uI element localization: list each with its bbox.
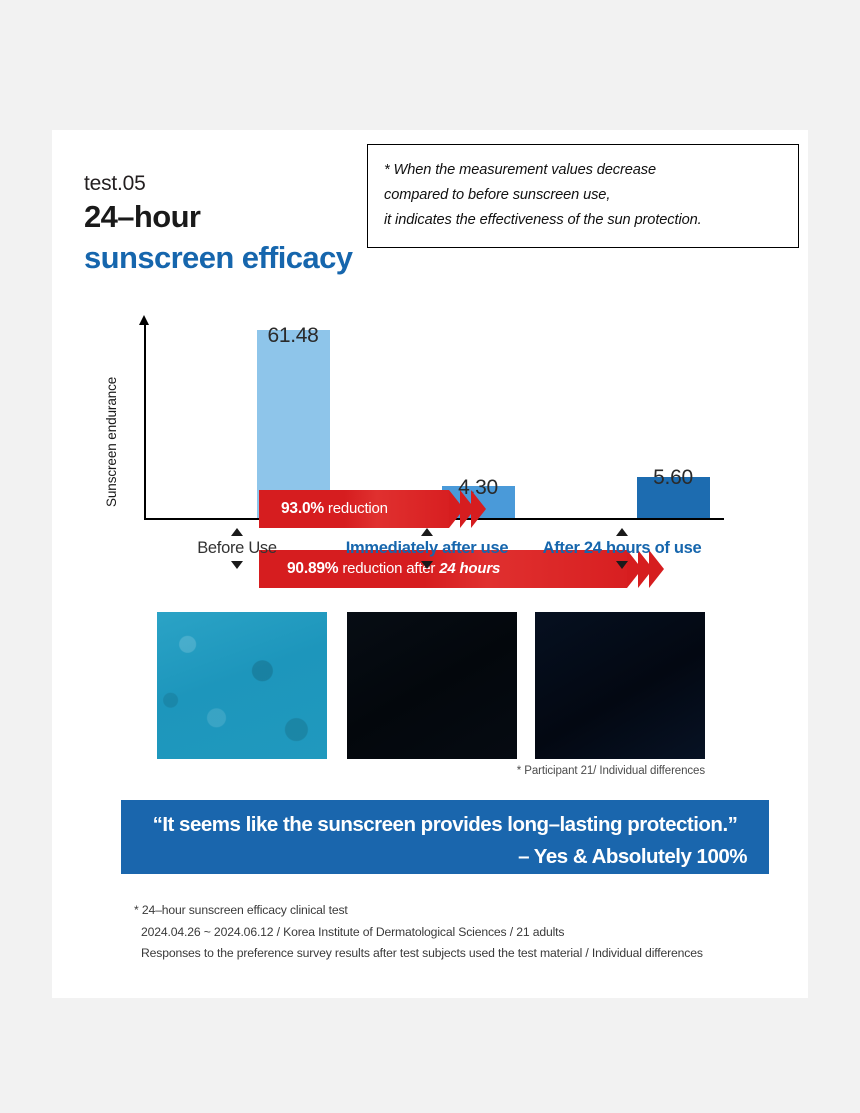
footnotes: * 24–hour sunscreen efficacy clinical te… xyxy=(134,900,794,965)
category-after-24-hours: After 24 hours of use xyxy=(522,528,722,569)
triangle-down-icon xyxy=(421,561,433,569)
header-block: test.05 24–hour sunscreen efficacy xyxy=(84,172,352,278)
note-line-1: * When the measurement values decrease xyxy=(384,158,782,183)
triangle-up-icon xyxy=(231,528,243,536)
content-card: test.05 24–hour sunscreen efficacy * Whe… xyxy=(52,130,808,998)
category-labels: Before Use Immediately after use After 2… xyxy=(52,528,808,586)
quote-banner: “It seems like the sunscreen provides lo… xyxy=(121,800,769,874)
category-before-use: Before Use xyxy=(137,528,337,569)
footnote-line-2: 2024.04.26 ~ 2024.06.12 / Korea Institut… xyxy=(134,922,794,944)
footnote-line-1: * 24–hour sunscreen efficacy clinical te… xyxy=(134,900,794,922)
reduction-label-immediate: reduction xyxy=(324,500,388,517)
note-line-3: it indicates the effectiveness of the su… xyxy=(384,208,782,233)
chevron-group-immediate xyxy=(449,490,486,528)
measurement-note-box: * When the measurement values decrease c… xyxy=(367,144,799,248)
page-title: 24–hour xyxy=(84,198,352,237)
triangle-up-icon xyxy=(616,528,628,536)
quote-text: “It seems like the sunscreen provides lo… xyxy=(143,812,747,838)
category-immediately-after-use: Immediately after use xyxy=(327,528,527,569)
test-number-label: test.05 xyxy=(84,172,352,195)
swatch-before-use xyxy=(157,612,327,759)
note-line-2: compared to before sunscreen use, xyxy=(384,183,782,208)
bar-value-before-use: 61.48 xyxy=(238,324,348,348)
chevron-right-icon xyxy=(471,490,486,528)
page-subtitle: sunscreen efficacy xyxy=(84,239,352,278)
bar-value-after-24-hours: 5.60 xyxy=(618,466,728,490)
category-label-immediately-after-use: Immediately after use xyxy=(327,539,527,557)
category-label-before-use: Before Use xyxy=(137,539,337,557)
footnote-line-3: Responses to the preference survey resul… xyxy=(134,943,794,965)
swatch-after-24-hours xyxy=(535,612,705,759)
swatch-immediately-after-use xyxy=(347,612,517,759)
y-axis-label: Sunscreen endurance xyxy=(104,352,122,532)
reduction-percent-immediate: 93.0% xyxy=(281,500,324,517)
quote-attribution: – Yes & Absolutely 100% xyxy=(143,843,747,871)
category-label-after-24-hours: After 24 hours of use xyxy=(522,539,722,557)
reduction-banner-immediate-text: 93.0% reduction xyxy=(281,500,388,518)
swatch-gallery: * Participant 21/ Individual differences xyxy=(52,612,808,764)
participant-note: * Participant 21/ Individual differences xyxy=(52,765,705,777)
triangle-down-icon xyxy=(231,561,243,569)
triangle-down-icon xyxy=(616,561,628,569)
reduction-banner-immediate: 93.0% reduction xyxy=(259,490,449,528)
page-background: test.05 24–hour sunscreen efficacy * Whe… xyxy=(0,0,860,1113)
triangle-up-icon xyxy=(421,528,433,536)
